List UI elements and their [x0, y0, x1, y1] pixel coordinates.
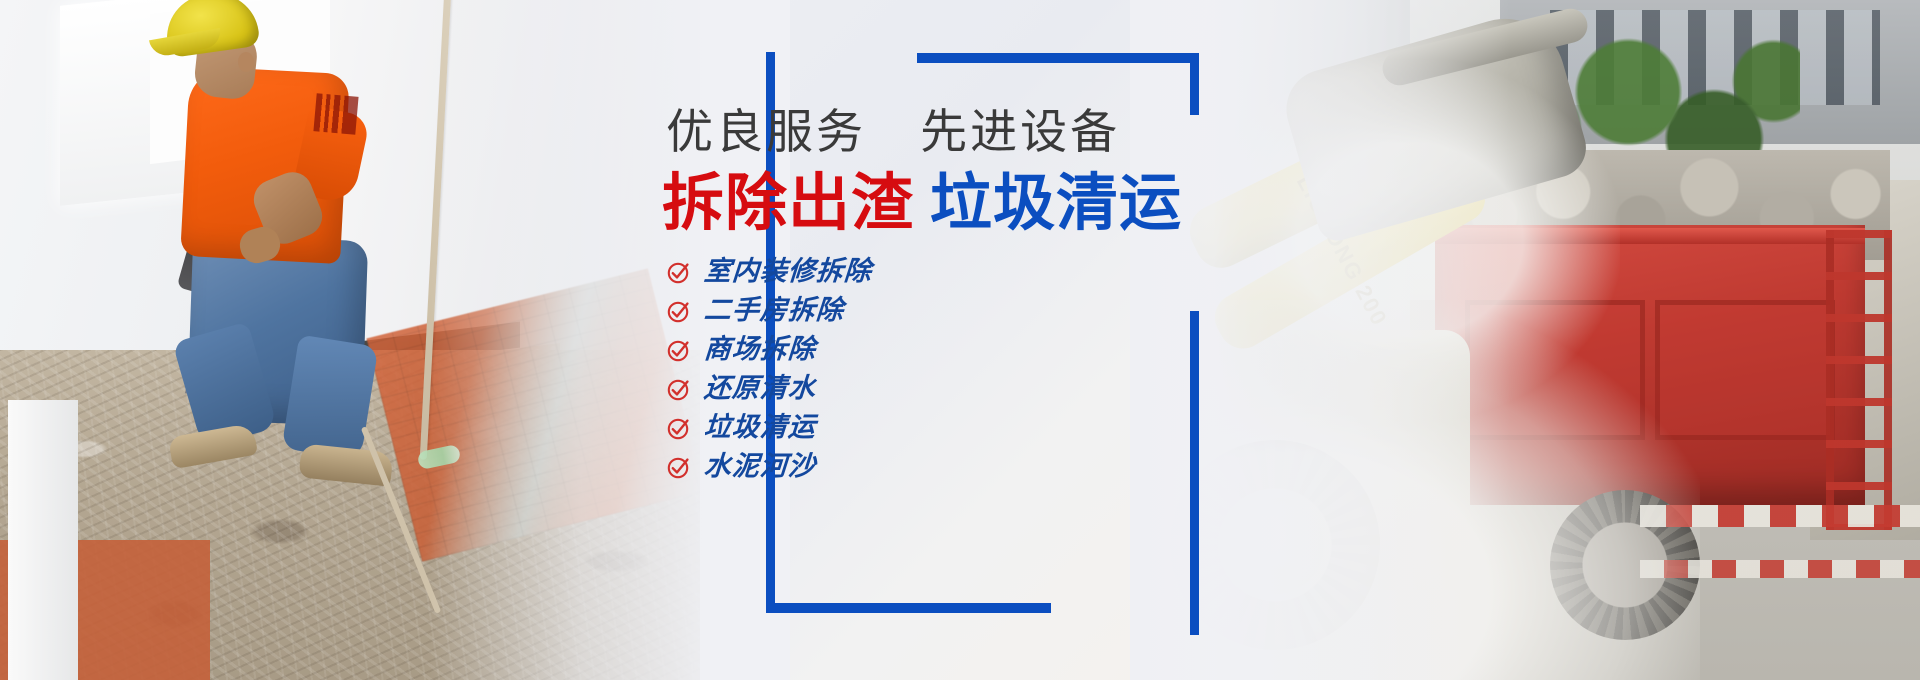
list-item-label: 还原清水 [703, 375, 817, 402]
list-item-label: 商场拆除 [703, 336, 817, 363]
truck-reflective-stripe [1640, 505, 1920, 527]
check-circle-icon [666, 259, 692, 285]
shirt-logo [313, 93, 358, 135]
truck-ladder [1826, 230, 1892, 530]
list-item[interactable]: 商场拆除 [666, 330, 1126, 369]
list-item-label: 室内装修拆除 [703, 258, 873, 285]
list-item-label: 水泥河沙 [703, 453, 817, 480]
check-circle-icon [666, 337, 692, 363]
list-item[interactable]: 还原清水 [666, 369, 1126, 408]
headline-main-red: 拆除出渣 [662, 166, 914, 239]
wall-pillar [8, 400, 78, 680]
check-circle-icon [666, 415, 692, 441]
list-item[interactable]: 室内装修拆除 [666, 252, 1126, 291]
list-item-label: 二手房拆除 [703, 297, 845, 324]
truck-top-rail [1435, 228, 1865, 244]
headline-subtitle: 优良服务 先进设备 [666, 108, 1186, 155]
check-circle-icon [666, 376, 692, 402]
check-circle-icon [666, 454, 692, 480]
truck-side-panel [1655, 300, 1835, 440]
truck-side-panel [1465, 300, 1645, 440]
list-item[interactable]: 水泥河沙 [666, 447, 1126, 486]
headline-subtitle-part2: 先进设备 [920, 105, 1120, 158]
list-item[interactable]: 二手房拆除 [666, 291, 1126, 330]
truck-reflective-stripe [1640, 560, 1920, 578]
promo-banner: LIUGONG 200 优良服务 先进设备 拆除出渣垃圾清运 [0, 0, 1920, 680]
headline-main-blue: 垃圾清运 [930, 166, 1182, 239]
check-circle-icon [666, 298, 692, 324]
list-item[interactable]: 垃圾清运 [666, 408, 1126, 447]
headline-subtitle-part1: 优良服务 [666, 105, 866, 158]
list-item-label: 垃圾清运 [703, 414, 817, 441]
demolition-worker-photo [0, 0, 700, 680]
service-list: 室内装修拆除 二手房拆除 商场拆除 还原清水 [666, 252, 1126, 486]
headline-main: 拆除出渣垃圾清运 [662, 172, 1202, 234]
worker-ear [238, 52, 254, 72]
banner-text-content: 优良服务 先进设备 拆除出渣垃圾清运 室内装修拆除 二手房拆除 [766, 0, 1246, 680]
